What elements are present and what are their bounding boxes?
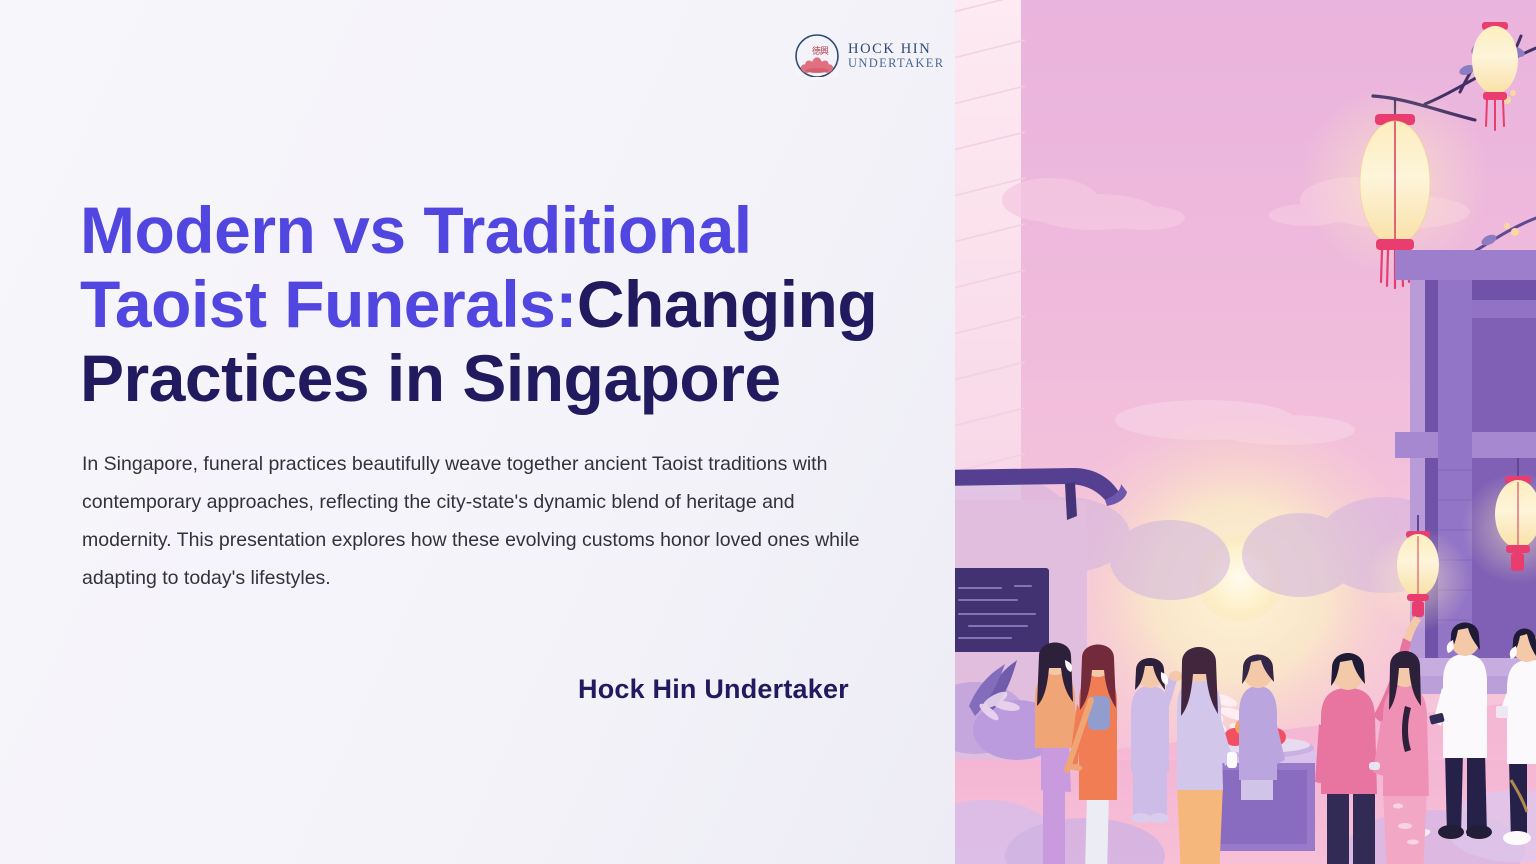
logo-line-2: UNDERTAKER xyxy=(848,57,944,70)
brand-logo: 徳 興 HOCK HIN UNDERTAKER xyxy=(793,28,943,84)
slide-subtitle: In Singapore, funeral practices beautifu… xyxy=(82,445,872,597)
company-byline: Hock Hin Undertaker xyxy=(578,674,849,705)
page-title: Modern vs Traditional Taoist Funerals:Ch… xyxy=(80,194,880,416)
logo-line-1: HOCK HIN xyxy=(848,42,944,57)
presentation-slide: 徳 興 HOCK HIN UNDERTAKER Modern vs Tr xyxy=(0,0,1536,864)
svg-text:興: 興 xyxy=(820,46,829,57)
lotus-in-circle-icon: 徳 興 xyxy=(793,32,841,80)
logo-wordmark: HOCK HIN UNDERTAKER xyxy=(848,42,944,70)
left-text-panel: 徳 興 HOCK HIN UNDERTAKER Modern vs Tr xyxy=(0,0,958,864)
taoist-temple-gathering-illustration xyxy=(955,0,1536,864)
